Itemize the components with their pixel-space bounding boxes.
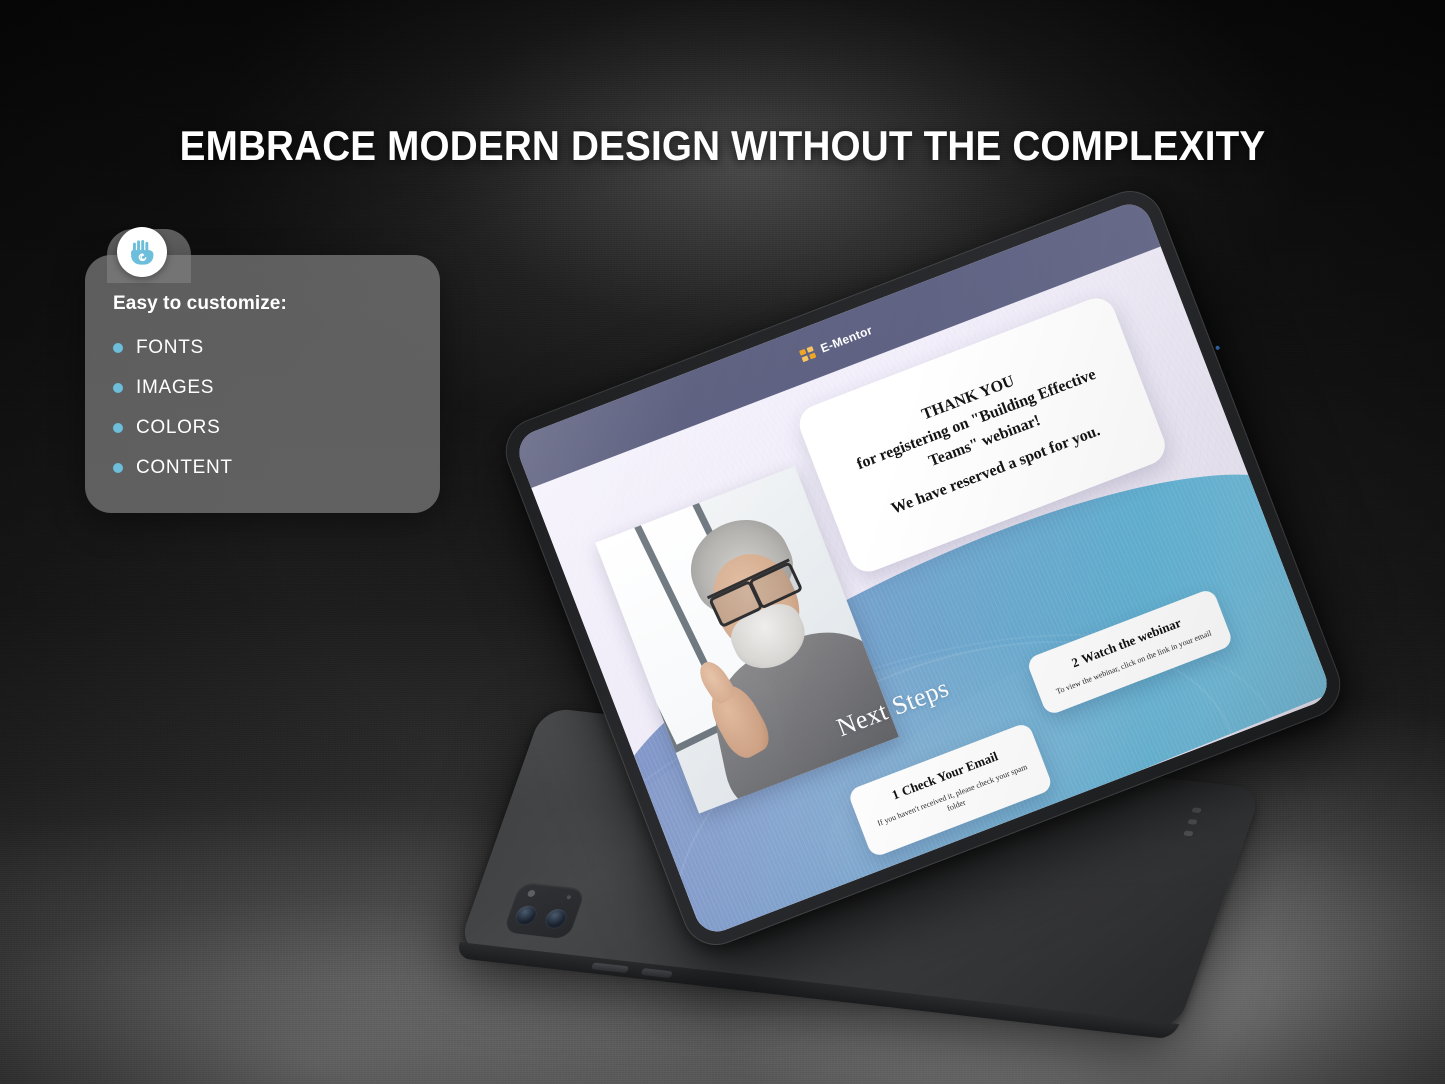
camera-mic-icon — [566, 895, 571, 899]
panel-title: Easy to customize: — [113, 293, 418, 315]
camera-lens-icon — [513, 905, 540, 927]
list-item[interactable]: IMAGES — [113, 377, 418, 399]
bullet-dot-icon — [113, 423, 123, 433]
list-item-label: CONTENT — [136, 457, 233, 479]
list-item-label: FONTS — [136, 337, 204, 359]
bullet-dot-icon — [113, 463, 123, 473]
brand-name: E-Mentor — [819, 323, 875, 356]
step-number: 1 — [890, 786, 901, 802]
hand-spiral-icon — [117, 227, 167, 277]
list-item[interactable]: COLORS — [113, 417, 418, 439]
slide-canvas: EMBRACE MODERN DESIGN WITHOUT THE COMPLE… — [0, 0, 1445, 1084]
bullet-dot-icon — [113, 343, 123, 353]
camera-lens-icon — [543, 908, 570, 930]
camera-flash-icon — [527, 890, 536, 898]
brand-logo[interactable]: E-Mentor — [799, 323, 874, 363]
brand-mark-icon — [799, 345, 818, 363]
list-item[interactable]: CONTENT — [113, 457, 418, 479]
customize-list: FONTS IMAGES COLORS CONTENT — [113, 337, 418, 479]
bullet-dot-icon — [113, 383, 123, 393]
list-item[interactable]: FONTS — [113, 337, 418, 359]
customize-panel: Easy to customize: FONTS IMAGES COLORS C… — [85, 255, 440, 513]
step-number: 2 — [1070, 654, 1081, 670]
list-item-label: COLORS — [136, 417, 220, 439]
page-title: EMBRACE MODERN DESIGN WITHOUT THE COMPLE… — [58, 122, 1387, 170]
list-item-label: IMAGES — [136, 377, 214, 399]
